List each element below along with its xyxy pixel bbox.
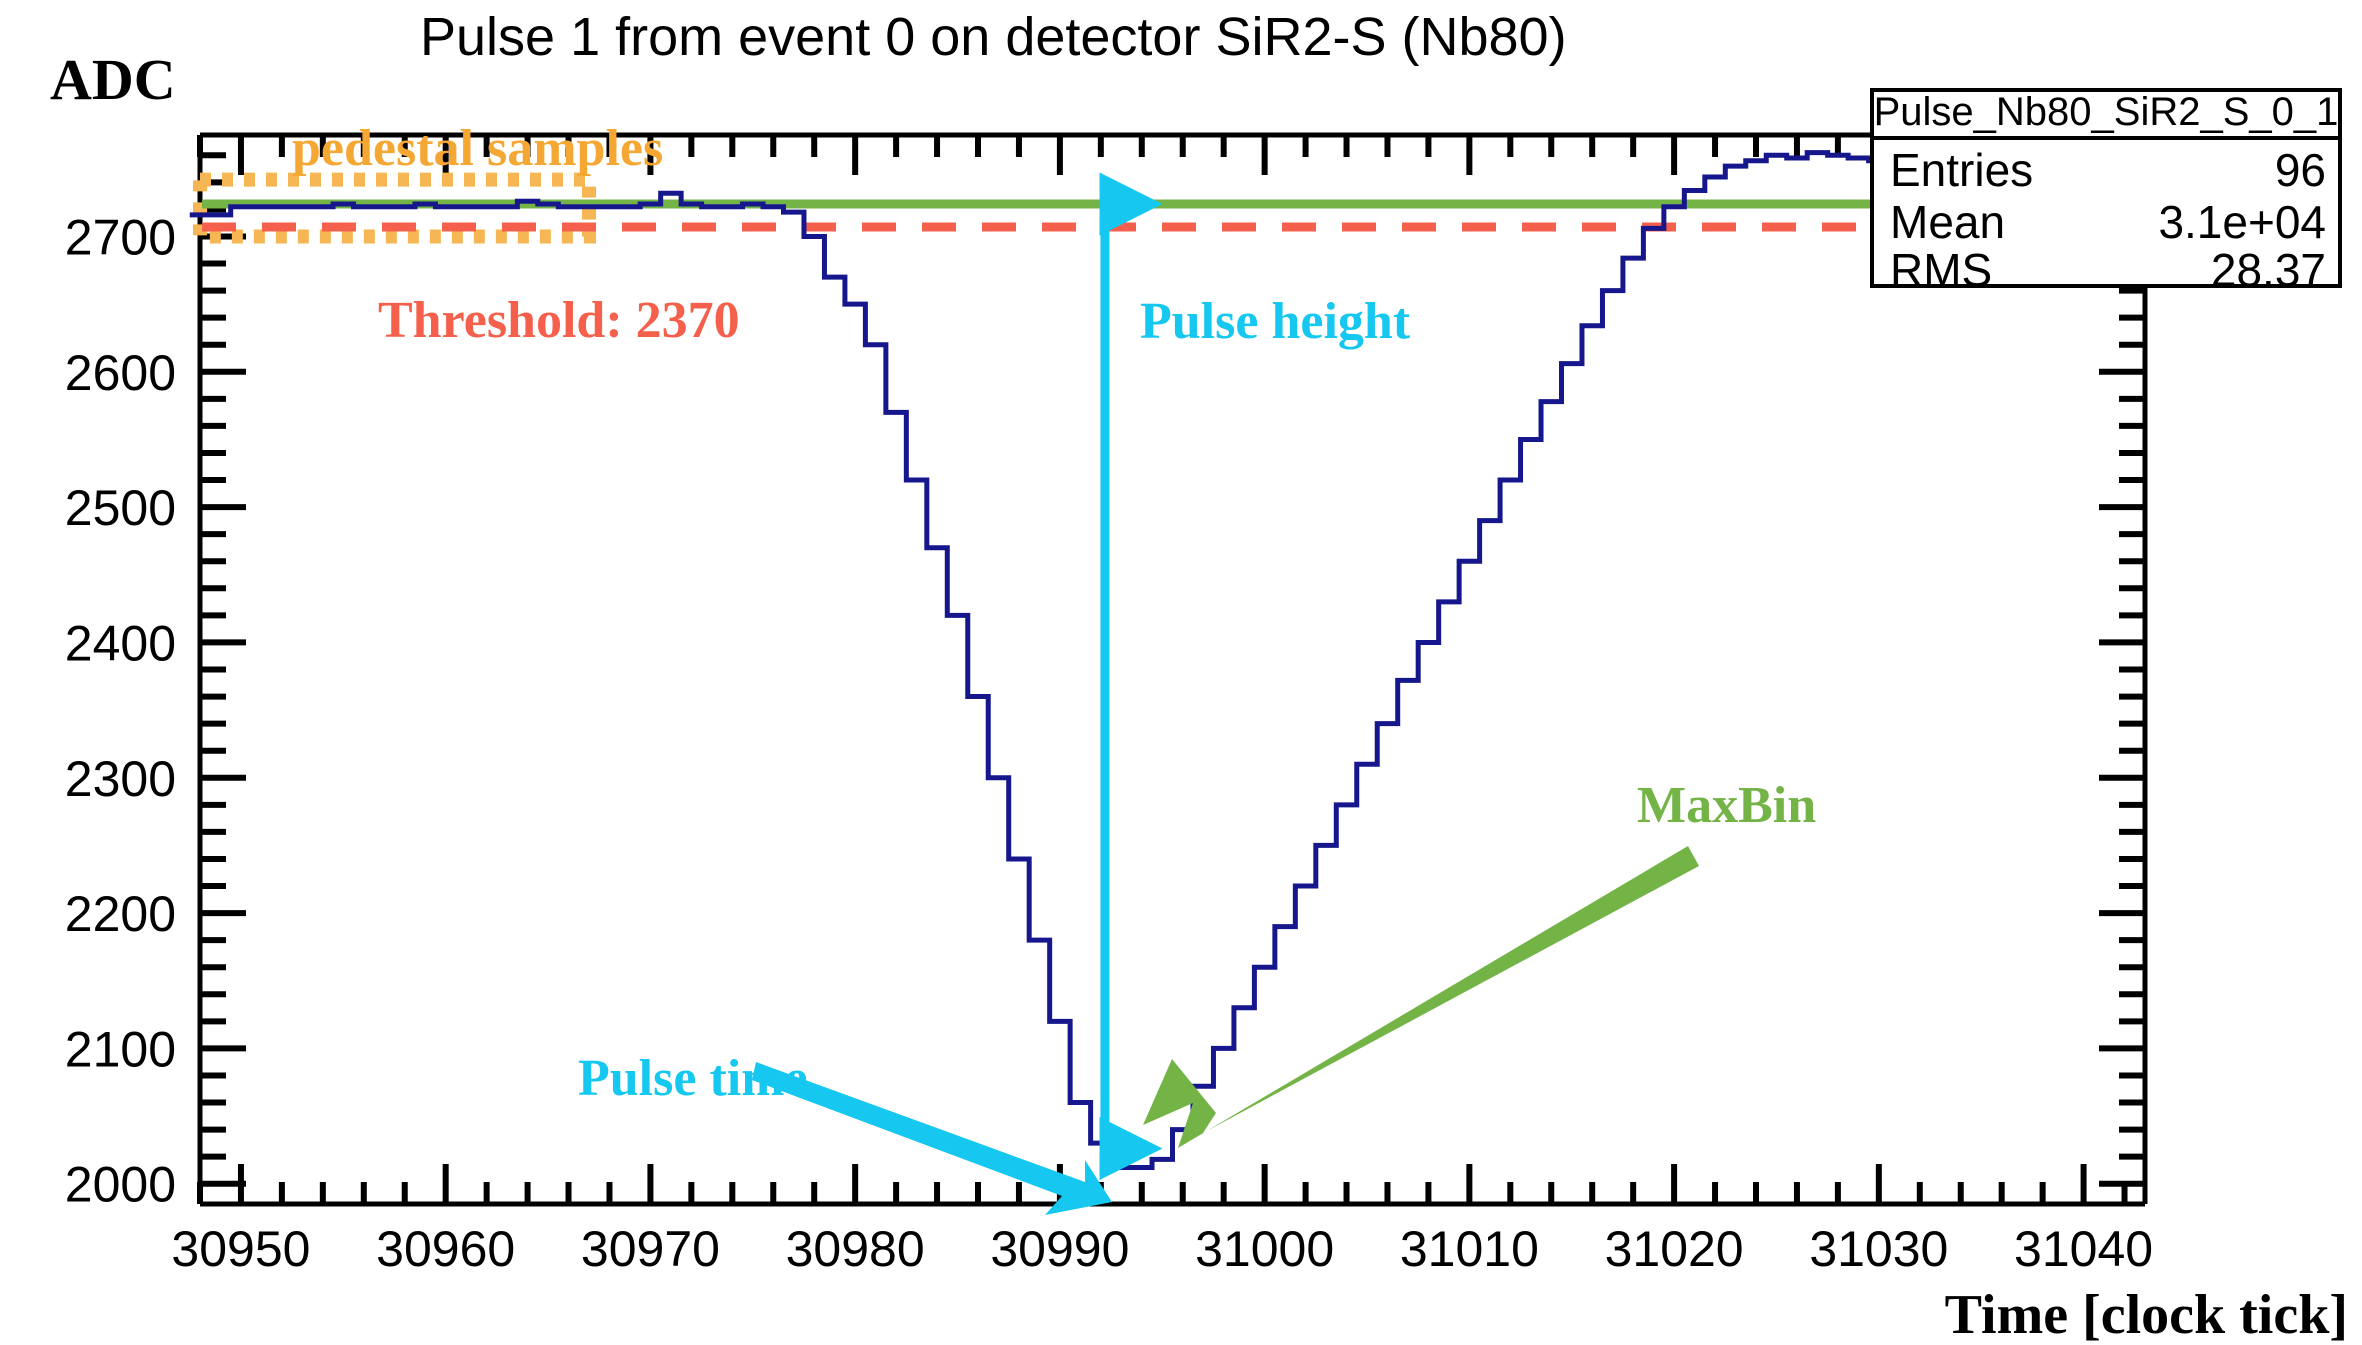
x-axis-label: Time [clock tick] [1945, 1284, 2348, 1345]
y-tick-label: 2100 [65, 1021, 176, 1077]
x-tick-label: 30970 [581, 1221, 720, 1277]
y-tick-label: 2200 [65, 886, 176, 942]
stats-row-label-1: Mean [1890, 196, 2005, 248]
x-tick-label: 30980 [786, 1221, 925, 1277]
x-tick-label: 31020 [1605, 1221, 1744, 1277]
stats-box[interactable]: Pulse_Nb80_SiR2_S_0_1 Entries 96 Mean 3.… [1872, 90, 2340, 296]
y-tick-label: 2500 [65, 480, 176, 536]
stats-row-label-2: RMS [1890, 244, 1992, 296]
maxbin-annotation: MaxBin [1637, 777, 1816, 834]
x-tick-label: 31030 [1809, 1221, 1948, 1277]
stats-row-value-0: 96 [2275, 144, 2326, 196]
x-tick-label: 31010 [1400, 1221, 1539, 1277]
stats-box-title: Pulse_Nb80_SiR2_S_0_1 [1874, 90, 2339, 134]
x-tick-label: 31040 [2014, 1221, 2153, 1277]
pulse-time-annotation: Pulse time [578, 1050, 808, 1107]
stats-row-label-0: Entries [1890, 144, 2033, 196]
x-tick-label: 30960 [376, 1221, 515, 1277]
root-chart-svg: Pulse 1 from event 0 on detector SiR2-S … [0, 0, 2362, 1345]
y-tick-label: 2000 [65, 1157, 176, 1213]
chart-title: Pulse 1 from event 0 on detector SiR2-S … [420, 7, 1567, 67]
y-tick-label: 2300 [65, 751, 176, 807]
y-tick-label: 2700 [65, 209, 176, 265]
y-tick-label: 2400 [65, 615, 176, 671]
threshold-annotation: Threshold: 2370 [378, 292, 740, 349]
x-tick-label: 31000 [1195, 1221, 1334, 1277]
stats-row-value-1: 3.1e+04 [2158, 196, 2326, 248]
stats-row-value-2: 28.37 [2211, 244, 2326, 296]
x-tick-label: 30950 [171, 1221, 310, 1277]
x-tick-label: 30990 [990, 1221, 1129, 1277]
y-tick-label: 2600 [65, 345, 176, 401]
pedestal-annotation: pedestal samples [292, 120, 663, 177]
pulse-height-annotation: Pulse height [1140, 293, 1411, 350]
plot-root: Pulse 1 from event 0 on detector SiR2-S … [0, 0, 2362, 1345]
y-axis-label: ADC [50, 47, 176, 112]
